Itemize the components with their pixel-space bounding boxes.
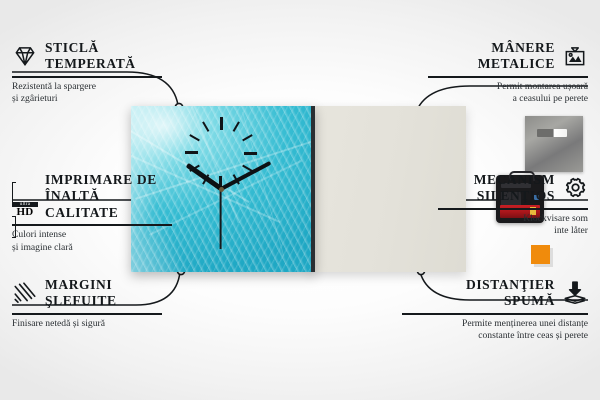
feature-subtitle: Permit montarea ușoarăa ceasului pe pere… bbox=[428, 81, 588, 107]
feature-header: MÂNEREMETALICE bbox=[428, 40, 588, 73]
foam-spacer-square bbox=[531, 245, 550, 264]
feature-header: MARGINIŞLEFUITE bbox=[12, 277, 162, 310]
feature-header: ultra HD IMPRIMARE DEÎNALTĂ CALITATE bbox=[12, 172, 172, 221]
feature-title: MÂNEREMETALICE bbox=[478, 40, 555, 73]
feature-header: MECANISMSILENŢIOS bbox=[438, 172, 588, 205]
gear-icon bbox=[562, 175, 588, 201]
feature-foam-spacer: DISTANŢIERSPUMĂ Permite menținerea unei … bbox=[402, 277, 588, 343]
feature-rule bbox=[438, 208, 588, 210]
ultra-hd-main-label: HD bbox=[12, 207, 38, 218]
diamond-icon bbox=[12, 43, 38, 69]
ultra-hd-icon: ultra HD bbox=[12, 184, 38, 210]
feature-rule bbox=[402, 313, 588, 315]
infographic-canvas: STICLĂTEMPERATĂ Rezistentă la spargereși… bbox=[0, 0, 600, 400]
feature-polished-edges: MARGINIŞLEFUITE Finisare netedă și sigur… bbox=[12, 277, 162, 330]
feature-title: MECANISMSILENŢIOS bbox=[474, 172, 555, 205]
feature-rule bbox=[428, 76, 588, 78]
hanger-slot bbox=[537, 129, 567, 137]
metal-hanger-plate bbox=[525, 116, 583, 172]
arrow-down-onto-pad-icon bbox=[562, 280, 588, 306]
feature-rule bbox=[12, 313, 162, 315]
feature-subtitle: Finisare netedă și sigură bbox=[12, 318, 162, 331]
feature-subtitle: Culori intenseși imagine clară bbox=[12, 229, 172, 255]
feature-rule bbox=[12, 76, 162, 78]
second-hand bbox=[220, 189, 222, 249]
diagonal-lines-icon bbox=[12, 280, 38, 306]
feature-metal-handles: MÂNEREMETALICE Permit montarea ușoarăa c… bbox=[428, 40, 588, 106]
feature-subtitle: Klockvisare sominte låter bbox=[438, 213, 588, 239]
feature-rule bbox=[12, 224, 172, 226]
feature-title: IMPRIMARE DEÎNALTĂ CALITATE bbox=[45, 172, 172, 221]
feature-subtitle: Rezistentă la spargereși zgârieturi bbox=[12, 81, 162, 107]
hand-pin bbox=[219, 187, 224, 192]
feature-silent-mechanism: MECANISMSILENŢIOS Klockvisare sominte lå… bbox=[438, 172, 588, 238]
feature-title: DISTANŢIERSPUMĂ bbox=[466, 277, 555, 310]
feature-tempered-glass: STICLĂTEMPERATĂ Rezistentă la spargereși… bbox=[12, 40, 162, 106]
feature-header: DISTANŢIERSPUMĂ bbox=[402, 277, 588, 310]
feature-title: STICLĂTEMPERATĂ bbox=[45, 40, 136, 73]
feature-header: STICLĂTEMPERATĂ bbox=[12, 40, 162, 73]
feature-high-quality-print: ultra HD IMPRIMARE DEÎNALTĂ CALITATE Cul… bbox=[12, 172, 172, 255]
product-image bbox=[131, 106, 466, 272]
feature-title: MARGINIŞLEFUITE bbox=[45, 277, 117, 310]
picture-frame-hook-icon bbox=[562, 43, 588, 69]
feature-subtitle: Permite menținerea unei distanțeconstant… bbox=[402, 318, 588, 344]
